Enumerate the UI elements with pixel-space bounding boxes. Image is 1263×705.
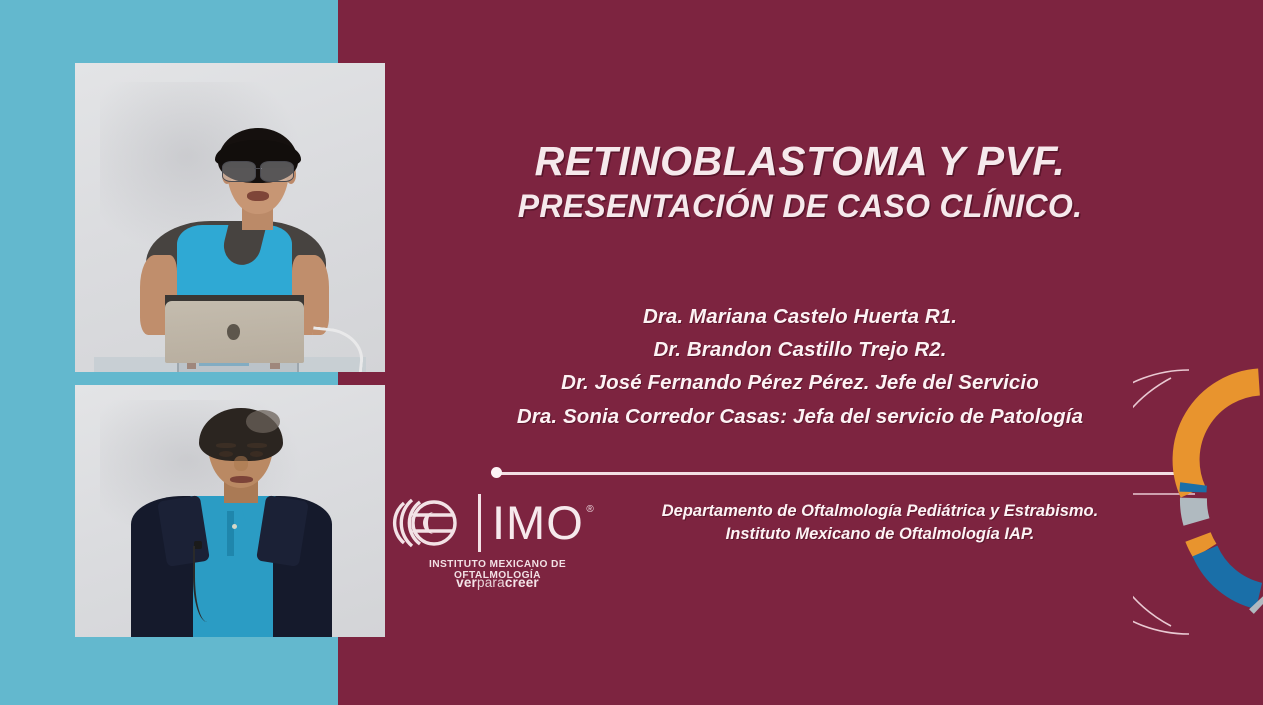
presenter-bottom-nose <box>234 456 248 471</box>
decorative-ring-graphic <box>1133 352 1263 652</box>
imo-eye-mark-icon <box>390 490 474 556</box>
slide-title-block: RETINOBLASTOMA Y PVF. PRESENTACIÓN DE CA… <box>400 140 1200 226</box>
divider-dot <box>491 467 502 478</box>
slide-canvas: RETINOBLASTOMA Y PVF. PRESENTACIÓN DE CA… <box>0 0 1263 705</box>
department-line: Instituto Mexicano de Oftalmología IAP. <box>610 523 1150 546</box>
video-tile-presenter-bottom[interactable] <box>75 385 385 637</box>
video-tile-presenter-top[interactable] <box>75 63 385 372</box>
horizontal-divider <box>497 472 1197 475</box>
presenter-bottom-placket <box>227 511 234 556</box>
presenter-bottom-brow-right <box>247 443 267 448</box>
imo-logo-tagline: verparacreer <box>390 575 605 590</box>
department-block: Departamento de Oftalmología Pediátrica … <box>610 500 1150 547</box>
imo-wordmark: IMO® <box>492 501 584 546</box>
department-line: Departamento de Oftalmología Pediátrica … <box>610 500 1150 523</box>
presenter-top-eyeglasses <box>222 161 293 181</box>
registered-mark: ® <box>586 505 594 515</box>
author-line: Dra. Mariana Castelo Huerta R1. <box>400 300 1200 333</box>
tagline-part-2: para <box>477 575 505 590</box>
presenter-bottom-brow-left <box>216 443 236 448</box>
apple-logo-icon <box>227 324 240 339</box>
presenter-bottom-eye-right <box>250 451 264 457</box>
presenter-bottom-mouth <box>230 476 253 483</box>
slide-title-line-2: PRESENTACIÓN DE CASO CLÍNICO. <box>400 188 1200 226</box>
tagline-part-1: ver <box>456 575 477 590</box>
author-list: Dra. Mariana Castelo Huerta R1. Dr. Bran… <box>400 300 1200 433</box>
presenter-bottom-hair-highlight <box>246 410 280 433</box>
tagline-part-3: creer <box>505 575 539 590</box>
logo-divider-bar <box>478 494 481 552</box>
author-line: Dra. Sonia Corredor Casas: Jefa del serv… <box>400 400 1200 433</box>
presenter-top-mouth <box>247 191 269 201</box>
author-line: Dr. José Fernando Pérez Pérez. Jefe del … <box>400 366 1200 399</box>
presenter-bottom-eye-left <box>219 451 233 457</box>
author-line: Dr. Brandon Castillo Trejo R2. <box>400 333 1200 366</box>
imo-logo: IMO® INSTITUTO MEXICANO DE OFTALMOLOGÍA … <box>390 487 605 592</box>
imo-wordmark-text: IMO <box>492 496 584 549</box>
slide-title-line-1: RETINOBLASTOMA Y PVF. <box>400 140 1200 183</box>
